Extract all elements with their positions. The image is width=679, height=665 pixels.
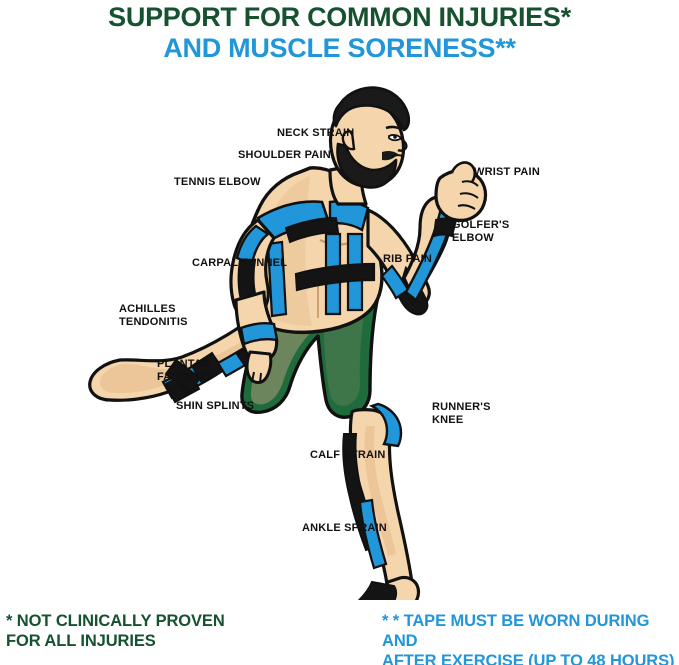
label-golfers-elbow: GOLFER'S ELBOW — [452, 219, 509, 245]
label-wrist-pain: WRIST PAIN — [474, 166, 540, 179]
figure-group — [90, 88, 486, 600]
label-calf-strain: CALF STRAIN — [310, 449, 386, 462]
label-rib-pain: RIB PAIN — [383, 253, 432, 266]
rear-hand — [247, 352, 271, 383]
label-ankle-sprain: ANKLE SPRAIN — [302, 522, 387, 535]
label-plantar-fasciitis: PLANTAR FASCIITIS — [157, 358, 211, 384]
tape-chest-blue-left — [268, 242, 286, 316]
label-carpal-tunnel: CARPAL TUNNEL — [192, 257, 287, 270]
lips — [392, 155, 402, 156]
label-shin-splints: SHIN SPLINTS — [176, 400, 254, 413]
label-shoulder-pain: SHOULDER PAIN — [238, 149, 331, 162]
label-runners-knee: RUNNER'S KNEE — [432, 401, 491, 427]
footnote-right: * * TAPE MUST BE WORN DURING AND AFTER E… — [382, 611, 679, 665]
tape-ankle-black-foot — [349, 582, 397, 600]
running-man-illustration — [0, 60, 679, 600]
infographic-page: SUPPORT FOR COMMON INJURIES* AND MUSCLE … — [0, 0, 679, 665]
footnote-left: * NOT CLINICALLY PROVEN FOR ALL INJURIES — [6, 611, 225, 651]
label-achilles-tendonitis: ACHILLES TENDONITIS — [119, 303, 188, 329]
pupil — [393, 135, 397, 139]
title-block: SUPPORT FOR COMMON INJURIES* AND MUSCLE … — [0, 2, 679, 64]
label-tennis-elbow: TENNIS ELBOW — [174, 176, 261, 189]
rear-hand-finger-2 — [260, 373, 261, 383]
page-title-line1: SUPPORT FOR COMMON INJURIES* — [0, 2, 679, 33]
label-neck-strain: NECK STRAIN — [277, 127, 354, 140]
